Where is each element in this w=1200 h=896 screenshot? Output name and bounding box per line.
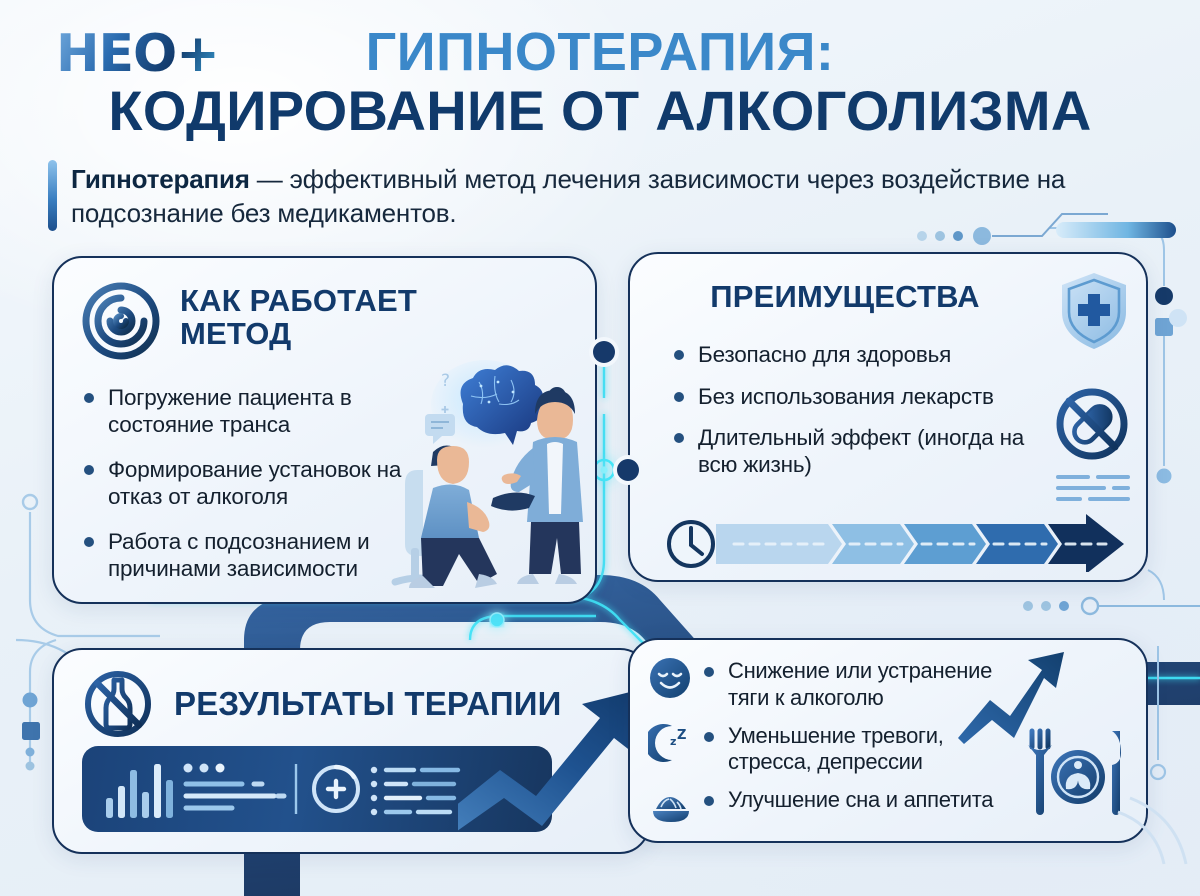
calm-face-icon [648,656,692,700]
list-item: Без использования лекарств [672,383,1030,410]
list-item: Формирование установок на отказ от алког… [82,456,426,511]
title-line-2: КОДИРОВАНИЕ ОТ АЛКОГОЛИЗМА [0,82,1200,140]
circuit-right-lower-dots [1023,598,1200,614]
no-pills-icon [1054,386,1130,462]
card-edge-dots [1162,376,1176,390]
infographic-canvas: HEO+ ГИПНОТЕРАПИЯ: КОДИРОВАНИЕ ОТ АЛКОГО… [0,0,1200,896]
no-alcohol-icon [82,668,154,740]
svg-text:Z: Z [677,728,686,743]
card-method-title: КАК РАБОТАЕТ МЕТОД [180,284,480,350]
sparkle [548,396,558,406]
page-title: ГИПНОТЕРАПИЯ: КОДИРОВАНИЕ ОТ АЛКОГОЛИЗМА [0,24,1200,140]
chevron-segments [716,514,1124,572]
list-item: Снижение или устранение тяги к алкоголю [648,656,1146,712]
sleep-moon-icon: z Z [648,721,692,765]
list-item: Длительный эффект (иногда на всю жизнь) [672,424,1030,479]
question-mark: ? [441,371,450,391]
list-item: Улучшение сна и аппетита [648,785,1146,829]
title-line-1: ГИПНОТЕРАПИЯ: [0,24,1200,80]
circuit-right-nodes [1151,287,1173,779]
svg-text:z: z [670,735,676,748]
clock-icon [669,522,713,566]
benefits-bullet-list: Безопасно для здоровья Без использования… [630,313,1030,479]
lead-strong: Гипнотерапия [71,164,250,194]
card-benefits-title: ПРЕИМУЩЕСТВА [710,279,979,314]
outcome-text: Улучшение сна и аппетита [704,785,993,814]
outcome-text: Уменьшение тревоги, стресса, депрессии [704,721,994,777]
food-bowl-icon [648,785,692,829]
mini-bar-chart [106,764,173,818]
card-how-method-works: КАК РАБОТАЕТ МЕТОД Погружение пациента в… [52,256,597,604]
dashboard-panel-icon [82,746,552,832]
list-item: Работа с подсознанием и причинами зависи… [82,528,426,583]
chat-bubble [425,414,455,444]
progress-timeline [664,514,1124,572]
plus-badge-icon [314,767,358,811]
brain-icon [461,365,543,445]
list-item: Погружение пациента в состояние транса [82,384,426,439]
card-therapy-results: РЕЗУЛЬТАТЫ ТЕРАПИИ [52,648,650,854]
panel-list [371,767,458,815]
therapist-figure [491,387,583,584]
outcome-text: Снижение или устранение тяги к алкоголю [704,656,1004,712]
panel-dots [184,764,225,773]
lead-accent-bar [48,160,57,231]
card-results-title: РЕЗУЛЬТАТЫ ТЕРАПИИ [174,686,562,721]
list-item: Безопасно для здоровья [672,341,1030,368]
text-lines-icon [1054,472,1132,506]
panel-lines [186,784,284,808]
sparkle [442,406,449,413]
method-bullet-list: Погружение пациента в состояние транса Ф… [54,362,426,583]
card-benefits: ПРЕИМУЩЕСТВА Безопасно для здоровья Без … [628,252,1148,582]
outcomes-list: Снижение или устранение тяги к алкоголю … [630,640,1146,829]
circuit-left-nodes [22,495,40,771]
card-outcomes: Снижение или устранение тяги к алкоголю … [628,638,1148,843]
list-item: z Z Уменьшение тревоги, стресса, депресс… [648,721,1146,777]
lead-paragraph: Гипнотерапия — эффективный метод лечения… [48,160,1138,231]
hypnosis-spiral-icon [80,280,162,362]
